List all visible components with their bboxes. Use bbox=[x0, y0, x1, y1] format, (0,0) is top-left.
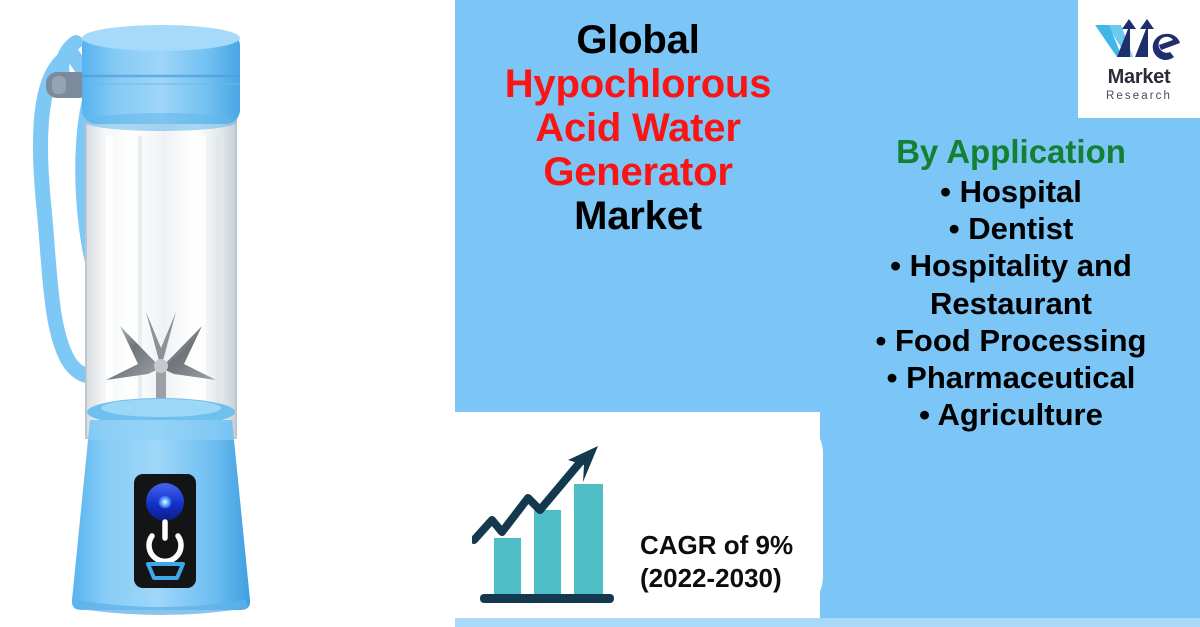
title-line-4: Generator bbox=[462, 150, 814, 194]
list-item: • Dentist bbox=[822, 210, 1200, 247]
growth-bar-chart-icon bbox=[472, 434, 632, 614]
lid bbox=[82, 25, 240, 131]
control-panel bbox=[134, 474, 196, 588]
by-application-section: By Application • Hospital • Dentist • Ho… bbox=[822, 134, 1200, 433]
cagr-value: CAGR of 9% bbox=[640, 529, 820, 562]
brand-name: Market bbox=[1108, 67, 1171, 87]
title-line-5: Market bbox=[462, 194, 814, 238]
title-line-2: Hypochlorous bbox=[462, 62, 814, 106]
list-item: • Hospitality and Restaurant bbox=[822, 247, 1200, 321]
list-item: • Pharmaceutical bbox=[822, 359, 1200, 396]
brand-logo[interactable]: Market Research bbox=[1078, 0, 1200, 118]
brand-tagline: Research bbox=[1106, 91, 1172, 103]
list-item: • Agriculture bbox=[822, 396, 1200, 433]
we-arrows-logo-icon bbox=[1091, 16, 1187, 66]
cagr-label: CAGR of 9% (2022-2030) bbox=[640, 529, 820, 594]
cagr-period: (2022-2030) bbox=[640, 562, 820, 595]
blue-background-panel-lower-right bbox=[820, 412, 1200, 618]
product-image-area bbox=[0, 0, 455, 627]
application-list: • Hospital • Dentist • Hospitality and R… bbox=[822, 173, 1200, 433]
page-title: Global Hypochlorous Acid Water Generator… bbox=[462, 18, 814, 238]
list-item: • Food Processing bbox=[822, 322, 1200, 359]
list-item: • Hospital bbox=[822, 173, 1200, 210]
title-line-3: Acid Water bbox=[462, 106, 814, 150]
title-line-1: Global bbox=[462, 18, 814, 62]
portable-blender-bottle-photo bbox=[20, 8, 290, 623]
by-application-heading: By Application bbox=[822, 134, 1200, 171]
infographic-canvas: Market Research Global Hypochlorous Acid… bbox=[0, 0, 1200, 627]
